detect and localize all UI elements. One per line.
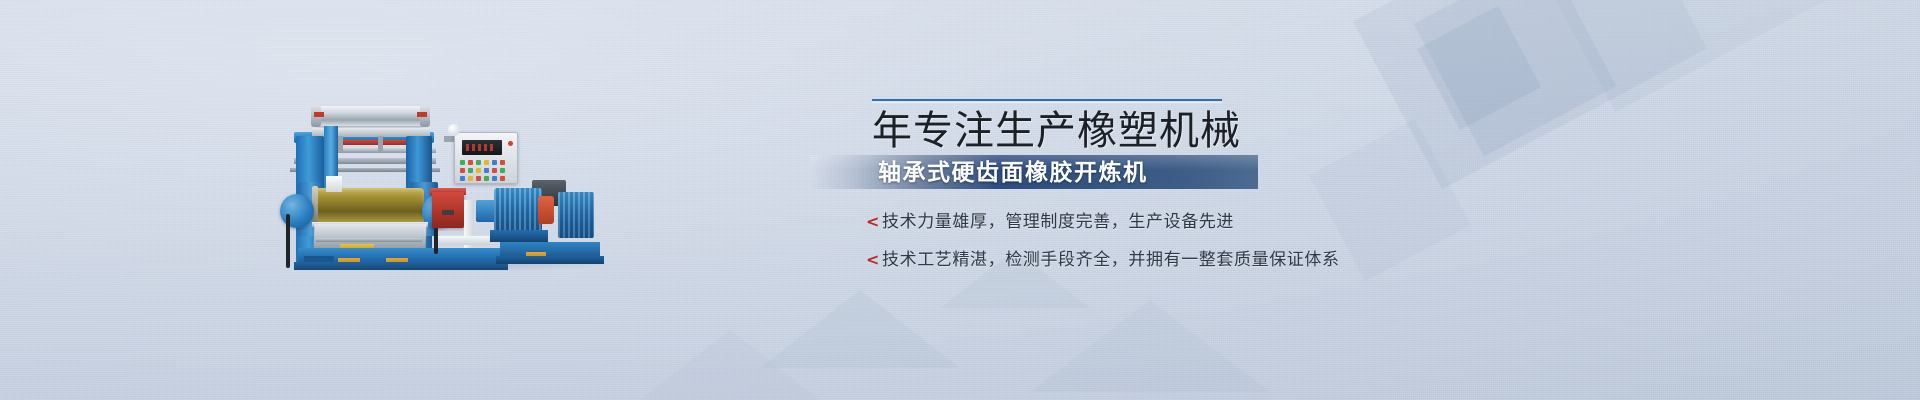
machine-panel-readout xyxy=(466,144,496,151)
feature-bullet-list: < 技术力量雄厚，管理制度完善，生产设备先进 < 技术工艺精湛，检测手段齐全，并… xyxy=(866,200,1486,276)
machine-white-conduit-horizontal xyxy=(436,236,498,245)
machine-panel-indicator-led xyxy=(508,141,513,146)
machine-main-brass-roller xyxy=(314,188,424,224)
machine-stub-left xyxy=(338,136,343,152)
machine-white-block xyxy=(326,176,342,192)
bullet-text: 技术工艺精湛，检测手段齐全，并拥有一整套质量保证体系 xyxy=(882,250,1340,270)
machine-panel-button-row-1 xyxy=(460,160,505,165)
machine-motor-base xyxy=(490,230,548,242)
machine-rear-gearbox-fins xyxy=(558,192,594,238)
product-image-rubber-mixing-mill xyxy=(286,96,616,268)
headline-divider-rule xyxy=(872,99,1222,101)
chevron-left-icon: < xyxy=(866,214,882,230)
machine-base-foot xyxy=(294,262,508,270)
bullet-text: 技术力量雄厚，管理制度完善，生产设备先进 xyxy=(882,212,1234,232)
headline-divider-highlight xyxy=(872,102,1222,103)
list-item: < 技术工艺精湛，检测手段齐全，并拥有一整套质量保证体系 xyxy=(866,243,1486,276)
product-subtitle: 轴承式硬齿面橡胶开炼机 xyxy=(878,155,1278,189)
machine-red-stop-right xyxy=(417,112,427,117)
machine-red-housing-plate xyxy=(442,210,454,215)
machine-stub-right xyxy=(378,136,383,152)
page-title: 年专注生产橡塑机械 xyxy=(872,106,1272,156)
watermark-shape-4 xyxy=(1545,0,1845,112)
machine-red-stop-left xyxy=(314,112,324,117)
machine-tray-rail xyxy=(316,238,422,242)
watermark-shape-2 xyxy=(1414,0,1617,156)
hero-banner: 年专注生产橡塑机械 轴承式硬齿面橡胶开炼机 < 技术力量雄厚，管理制度完善，生产… xyxy=(0,0,1920,400)
machine-motor-fins xyxy=(494,188,542,232)
watermark-shape-3 xyxy=(1417,6,1541,130)
machine-coupler xyxy=(476,200,496,222)
machine-panel-button-row-3 xyxy=(460,176,505,181)
machine-top-roller xyxy=(316,106,424,126)
watermark-triangle-3 xyxy=(1030,300,1270,392)
machine-panel-button-row-2 xyxy=(460,168,505,173)
chevron-left-icon: < xyxy=(866,252,882,268)
watermark-shape-1 xyxy=(1353,0,1707,189)
machine-beacon-light xyxy=(448,124,460,136)
list-item: < 技术力量雄厚，管理制度完善，生产设备先进 xyxy=(866,205,1486,238)
watermark-triangle-4 xyxy=(640,330,820,400)
machine-cable-left xyxy=(286,214,290,268)
machine-rear-base-foot xyxy=(496,256,604,264)
watermark-triangle-1 xyxy=(760,290,960,368)
machine-cable-right xyxy=(434,228,438,254)
machine-motor-end-cap xyxy=(538,196,554,224)
